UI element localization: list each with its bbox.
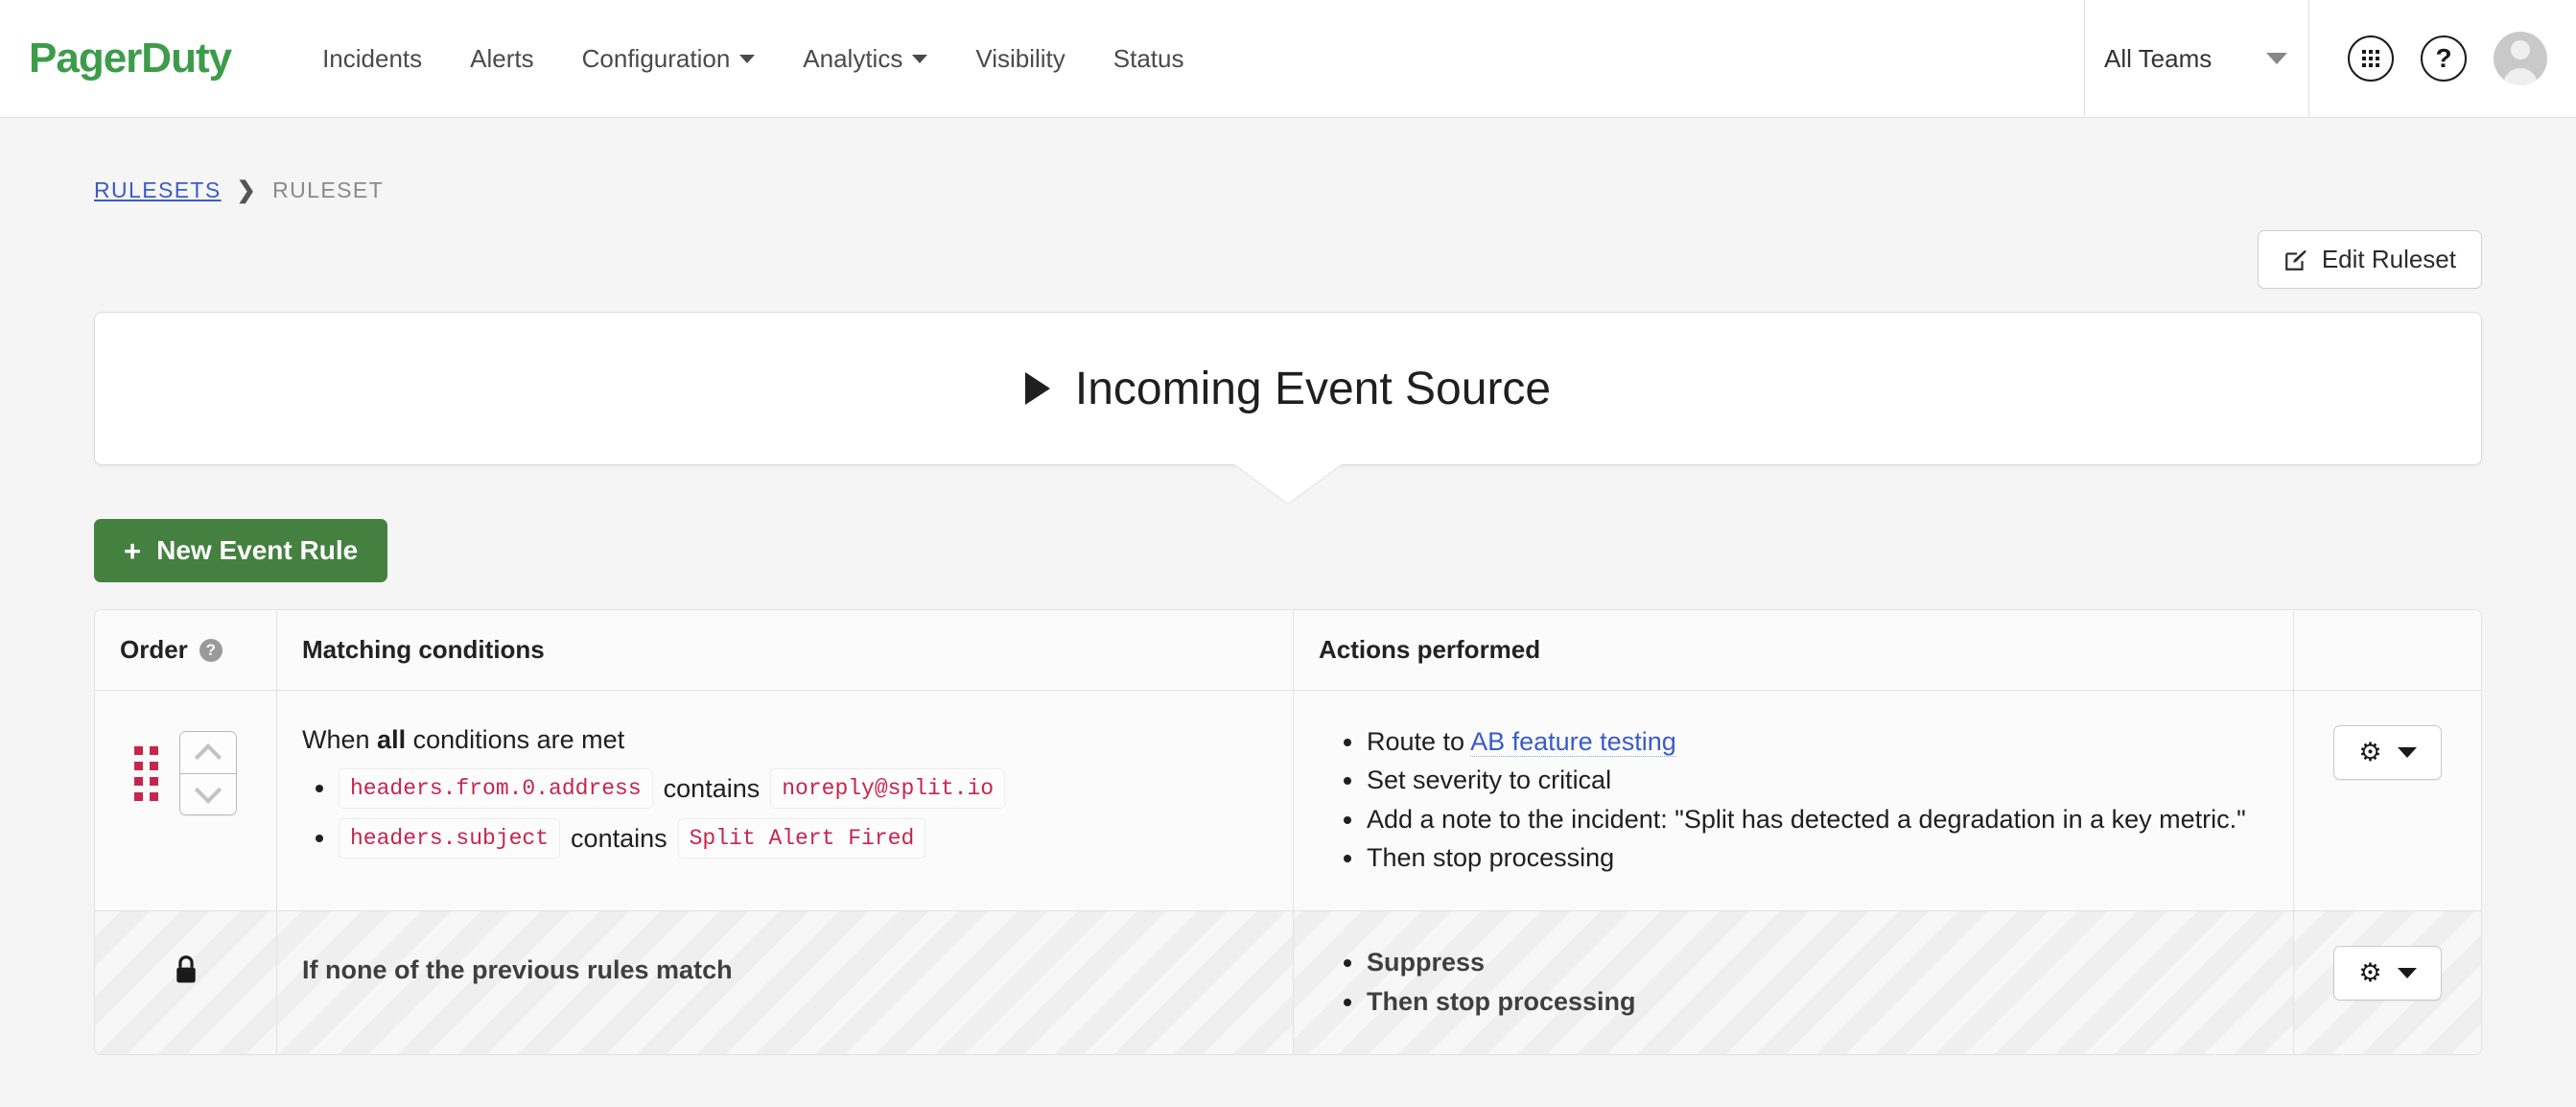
default-rule-settings-menu-button[interactable]: ⚙: [2333, 946, 2441, 1001]
lock-icon: [172, 954, 200, 986]
incoming-event-source-card[interactable]: Incoming Event Source: [94, 312, 2482, 465]
triangle-right-icon[interactable]: [1025, 372, 1050, 405]
rules-table-wrapper: Order ? Matching conditions Actions perf…: [0, 582, 2576, 1055]
chevron-down-icon: [2266, 53, 2287, 64]
action-item: Suppress: [1334, 944, 2264, 980]
move-down-button[interactable]: [180, 773, 236, 814]
table-header-row: Order ? Matching conditions Actions perf…: [95, 610, 2481, 691]
chevron-down-icon: [739, 55, 755, 63]
nav-right-group: ?: [2309, 0, 2576, 117]
conditions-heading-prefix: When: [302, 725, 377, 754]
default-row-actions-cell: Suppress Then stop processing: [1294, 911, 2294, 1054]
gear-icon: ⚙: [2358, 960, 2381, 986]
teams-selector-value: All Teams: [2104, 44, 2212, 74]
table-header: Order ? Matching conditions Actions perf…: [95, 610, 2481, 691]
breadcrumb: RULESETS ❯ RULESET: [0, 118, 2576, 203]
teams-selector[interactable]: All Teams: [2084, 0, 2309, 117]
condition-value: Split Alert Fired: [678, 818, 926, 859]
pagerduty-logo[interactable]: PagerDuty: [29, 37, 231, 80]
source-card-wrapper: Incoming Event Source: [0, 289, 2576, 465]
conditions-heading-bold: all: [377, 725, 406, 754]
new-event-rule-label: New Event Rule: [156, 535, 358, 566]
source-card-title-group: Incoming Event Source: [1025, 363, 1551, 415]
action-item: Add a note to the incident: "Split has d…: [1334, 801, 2264, 837]
top-navigation-bar: PagerDuty Incidents Alerts Configuration…: [0, 0, 2576, 118]
condition-field: headers.from.0.address: [339, 768, 653, 809]
condition-operator: contains: [664, 774, 761, 804]
primary-nav-items: Incidents Alerts Configuration Analytics…: [298, 44, 1207, 74]
column-header-order: Order ?: [95, 610, 277, 691]
nav-left-group: PagerDuty Incidents Alerts Configuration…: [0, 0, 2084, 117]
event-rules-table: Order ? Matching conditions Actions perf…: [94, 609, 2482, 1055]
nav-item-incidents[interactable]: Incidents: [298, 44, 446, 74]
new-event-rule-button[interactable]: + New Event Rule: [94, 519, 387, 582]
nav-item-label: Status: [1113, 44, 1184, 74]
edit-ruleset-button[interactable]: Edit Ruleset: [2258, 230, 2482, 289]
breadcrumb-current-ruleset: RULESET: [272, 177, 384, 203]
default-row-lock-cell: [95, 911, 277, 1054]
chevron-right-icon: ❯: [237, 179, 258, 202]
nav-item-configuration[interactable]: Configuration: [558, 44, 780, 74]
action-item: Route to AB feature testing: [1334, 723, 2264, 760]
order-spinner: [179, 731, 237, 815]
nav-item-alerts[interactable]: Alerts: [446, 44, 557, 74]
action-item: Then stop processing: [1334, 839, 2264, 876]
drag-handle-icon[interactable]: [134, 746, 158, 801]
edit-ruleset-label: Edit Ruleset: [2322, 245, 2456, 274]
nav-item-analytics[interactable]: Analytics: [779, 44, 951, 74]
chevron-down-icon: [195, 777, 222, 804]
help-icon[interactable]: ?: [199, 639, 222, 662]
nav-item-label: Visibility: [975, 44, 1065, 74]
conditions-heading-suffix: conditions are met: [406, 725, 624, 754]
default-row-label-cell: If none of the previous rules match: [277, 911, 1294, 1054]
move-up-button[interactable]: [180, 732, 236, 773]
row-conditions-cell: When all conditions are met headers.from…: [277, 691, 1294, 911]
column-header-order-label: Order: [120, 635, 188, 665]
conditions-list: headers.from.0.address contains noreply@…: [302, 768, 1268, 859]
condition-field: headers.subject: [339, 818, 560, 859]
condition-item: headers.subject contains Split Alert Fir…: [302, 818, 1268, 859]
nav-item-visibility[interactable]: Visibility: [951, 44, 1089, 74]
nav-item-label: Incidents: [322, 44, 422, 74]
table-body: When all conditions are met headers.from…: [95, 691, 2481, 1054]
grid-apps-icon[interactable]: [2348, 35, 2394, 82]
help-icon[interactable]: ?: [2421, 35, 2467, 82]
nav-item-label: Alerts: [470, 44, 533, 74]
action-link-service[interactable]: AB feature testing: [1470, 727, 1676, 757]
column-header-menu: [2294, 610, 2481, 691]
nav-item-status[interactable]: Status: [1089, 44, 1208, 74]
default-rule-label: If none of the previous rules match: [277, 911, 1293, 1029]
row-order-cell: [95, 691, 277, 911]
chevron-down-icon: [912, 55, 927, 63]
default-actions-list: Suppress Then stop processing: [1334, 944, 2264, 1020]
actions-list: Route to AB feature testing Set severity…: [1334, 723, 2264, 876]
toolbar-row: Edit Ruleset: [0, 203, 2576, 289]
question-mark-glyph: ?: [2435, 45, 2451, 72]
row-actions-cell: Route to AB feature testing Set severity…: [1294, 691, 2294, 911]
rule-settings-menu-button[interactable]: ⚙: [2333, 725, 2441, 780]
column-header-actions-performed: Actions performed: [1294, 610, 2294, 691]
chevron-up-icon: [195, 743, 222, 770]
action-text: Route to: [1367, 727, 1470, 756]
source-card-title: Incoming Event Source: [1075, 363, 1551, 415]
user-avatar-icon[interactable]: [2494, 32, 2547, 85]
plus-icon: +: [124, 536, 141, 566]
grid-dots-glyph: [2362, 50, 2379, 67]
table-row: If none of the previous rules match Supp…: [95, 911, 2481, 1054]
condition-value: noreply@split.io: [770, 768, 1005, 809]
action-item: Set severity to critical: [1334, 762, 2264, 798]
nav-item-label: Configuration: [582, 44, 731, 74]
column-header-matching-conditions: Matching conditions: [277, 610, 1294, 691]
condition-item: headers.from.0.address contains noreply@…: [302, 768, 1268, 809]
caret-down-icon: [2398, 968, 2417, 978]
conditions-heading: When all conditions are met: [302, 725, 1268, 755]
card-callout-notch: [1234, 464, 1342, 504]
nav-item-label: Analytics: [803, 44, 902, 74]
row-menu-cell: ⚙: [2294, 691, 2481, 911]
breadcrumb-link-rulesets[interactable]: RULESETS: [94, 177, 222, 203]
pencil-square-icon: [2283, 247, 2308, 272]
action-item: Then stop processing: [1334, 983, 2264, 1020]
caret-down-icon: [2398, 747, 2417, 758]
gear-icon: ⚙: [2358, 740, 2381, 765]
default-row-menu-cell: ⚙: [2294, 911, 2481, 1054]
condition-operator: contains: [571, 824, 667, 854]
table-row: When all conditions are met headers.from…: [95, 691, 2481, 911]
